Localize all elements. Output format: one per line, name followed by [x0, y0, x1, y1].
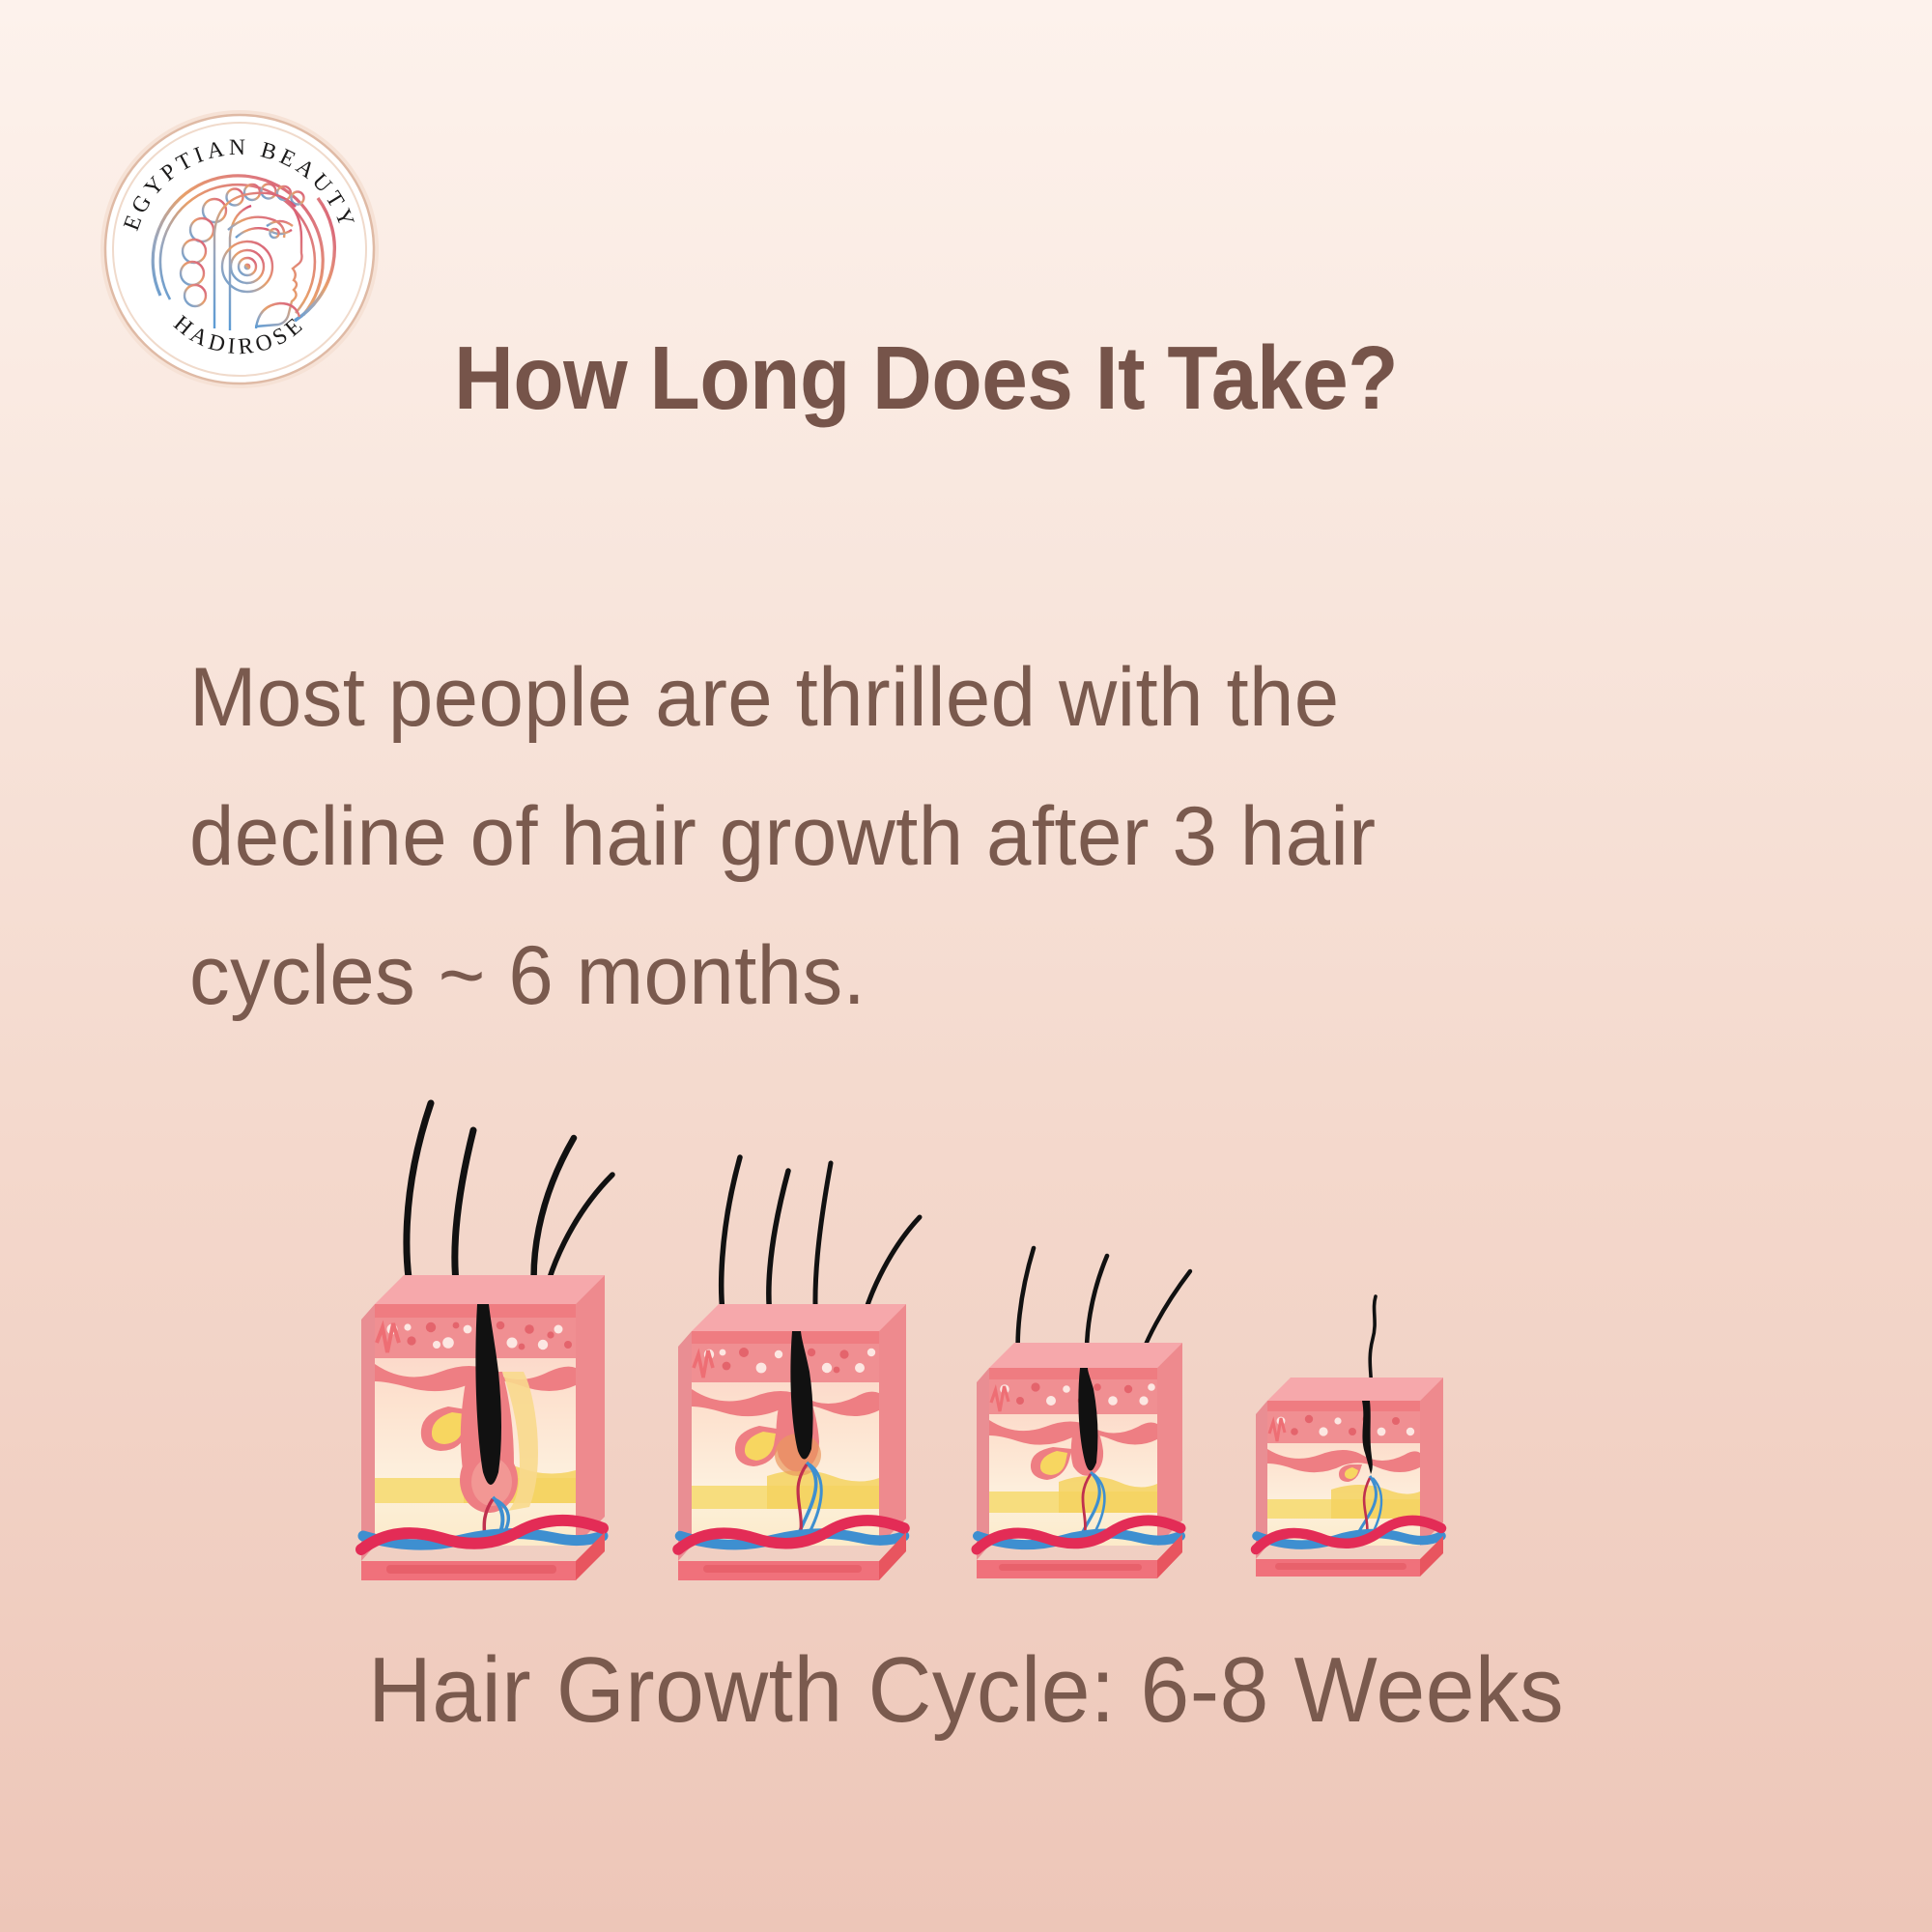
skin-left-face	[361, 1304, 375, 1561]
skin-left-face	[678, 1331, 692, 1561]
skin-block-stage-2	[667, 1082, 935, 1604]
poster-canvas: EGYPTIAN BEAUTY HADIROSE	[0, 0, 1932, 1932]
body-paragraph: Most people are thrilled with the declin…	[189, 628, 1745, 1045]
skin-block-stage-4	[1246, 1082, 1466, 1604]
body-line-1: Most people are thrilled with the	[189, 628, 1745, 767]
diagram-caption: Hair Growth Cycle: 6-8 Weeks	[48, 1642, 1884, 1740]
skin-top-face	[375, 1275, 605, 1304]
skin-block-stage-1	[348, 1082, 638, 1604]
hair-growth-cycle-diagram	[348, 1082, 1584, 1604]
page-title: How Long Does It Take?	[454, 333, 1449, 423]
skin-right-face	[1157, 1343, 1182, 1546]
skin-right-face	[879, 1304, 906, 1546]
brand-logo[interactable]: EGYPTIAN BEAUTY HADIROSE	[97, 106, 383, 392]
skin-top-face	[692, 1304, 906, 1331]
skin-top-face	[1267, 1378, 1443, 1401]
skin-block-stage-3	[966, 1082, 1209, 1604]
body-line-2: decline of hair growth after 3 hair	[189, 767, 1745, 906]
skin-top-face	[989, 1343, 1182, 1368]
skin-right-face	[576, 1275, 605, 1546]
body-line-3: cycles ~ 6 months.	[189, 906, 1745, 1045]
